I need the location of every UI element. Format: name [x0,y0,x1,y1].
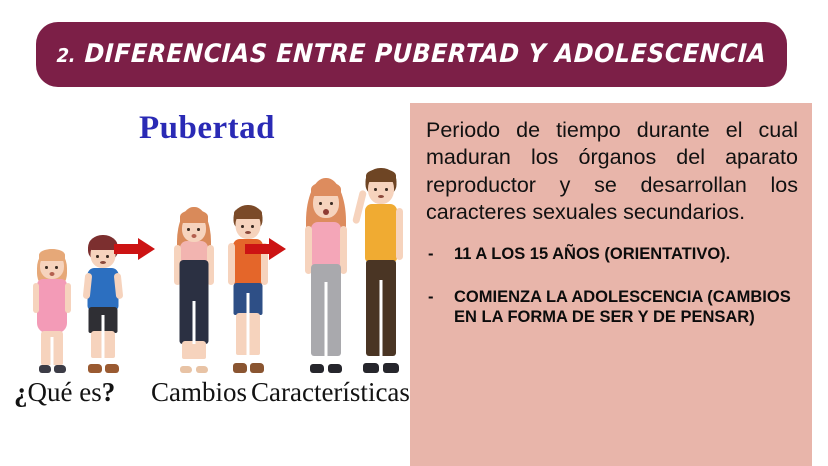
eye-icon [96,255,99,258]
eye-icon [251,225,254,228]
leg-gap [51,337,54,365]
shoe-icon [363,363,379,373]
list-item: -COMIENZA LA ADOLESCENCIA (CAMBIOS EN LA… [426,287,798,328]
figure-stage [8,158,406,373]
page-title: 2. DIFERENCIAS ENTRE PUBERTAD Y ADOLESCE… [56,42,767,68]
eye-icon [385,188,388,191]
arm-icon [340,226,347,274]
hair-front-icon [311,182,341,196]
arm-icon [114,273,124,300]
shoe-icon [383,363,399,373]
figure-chico-adolescente [352,168,410,373]
title-number: 2. [56,45,76,67]
shoe-icon [105,364,119,373]
shoe-icon [180,366,192,373]
eye-icon [45,266,48,269]
mouth-icon [323,209,329,215]
bullet-marker: - [428,287,434,307]
mouth-icon [100,261,106,264]
slide-title-banner: 2. DIFERENCIAS ENTRE PUBERTAD Y ADOLESCE… [36,22,787,87]
mouth-icon [245,231,251,234]
slide-canvas: 2. DIFERENCIAS ENTRE PUBERTAD Y ADOLESCE… [0,0,828,466]
figure-nina-pequena [26,245,78,373]
list-item-label: 11 A LOS 15 AÑOS (ORIENTATIVO). [454,245,730,263]
caption-que-es: ¿Qué es? [14,377,115,408]
dress-icon [37,279,67,333]
eye-icon [374,188,377,191]
leg-gap [102,315,105,358]
arrow-right-icon [114,238,158,260]
leg-gap [380,280,383,356]
shoe-icon [310,364,324,373]
arrow-right-icon [245,238,289,260]
eye-icon [241,225,244,228]
arm-icon [65,283,71,313]
leg-gap [325,282,328,356]
hair-front-icon [180,210,208,223]
arm-icon [228,243,235,285]
leg-gap [247,293,250,355]
top-icon [311,222,341,266]
caption-suffix: ? [102,377,116,407]
shoe-icon [250,363,264,373]
shoe-icon [328,364,342,373]
list-item-label: COMIENZA LA ADOLESCENCIA (CAMBIOS EN LA … [454,288,791,326]
hair-front-icon [366,169,396,182]
figure-chica-adolescente [296,178,356,373]
hair-front-icon [39,249,65,261]
caption-prefix: ¿ [14,377,28,407]
caption-cambios: Cambios [151,377,247,408]
mouth-icon [50,272,55,276]
shoe-icon [196,366,208,373]
info-panel: Periodo de tiempo durante el cual madura… [410,103,812,466]
mouth-icon [378,195,384,198]
bullet-list: -11 A LOS 15 AÑOS (ORIENTATIVO). -COMIEN… [426,244,798,327]
illustration-captions: ¿Qué es? Cambios Características [8,377,406,431]
figure-chica-preadolescente [166,205,222,373]
hair-front-icon [89,237,117,250]
title-main-text: DIFERENCIAS ENTRE PUBERTAD Y ADOLESCENCI… [84,39,767,69]
eye-icon [55,266,58,269]
shoe-icon [88,364,102,373]
eye-icon [319,202,322,205]
list-item: -11 A LOS 15 AÑOS (ORIENTATIVO). [426,244,798,264]
figure-chico-preadolescente [220,201,276,373]
eye-icon [197,228,200,231]
caption-body: Qué es [28,377,102,407]
shoe-icon [54,365,66,373]
eye-icon [106,255,109,258]
pubertad-illustration: Pubertad [8,96,406,444]
eye-icon [187,228,190,231]
shoe-icon [39,365,51,373]
mouth-icon [192,234,197,238]
leg-gap [193,301,196,344]
arm-icon [33,283,39,313]
shoe-icon [233,363,247,373]
shirt-icon [365,204,397,262]
eye-icon [330,202,333,205]
hair-front-icon [234,207,262,219]
caption-caracteristicas: Características [251,377,410,408]
illustration-heading: Pubertad [8,110,406,147]
definition-text: Periodo de tiempo durante el cual madura… [426,117,798,226]
arm-icon [396,208,403,260]
bullet-marker: - [428,244,434,264]
